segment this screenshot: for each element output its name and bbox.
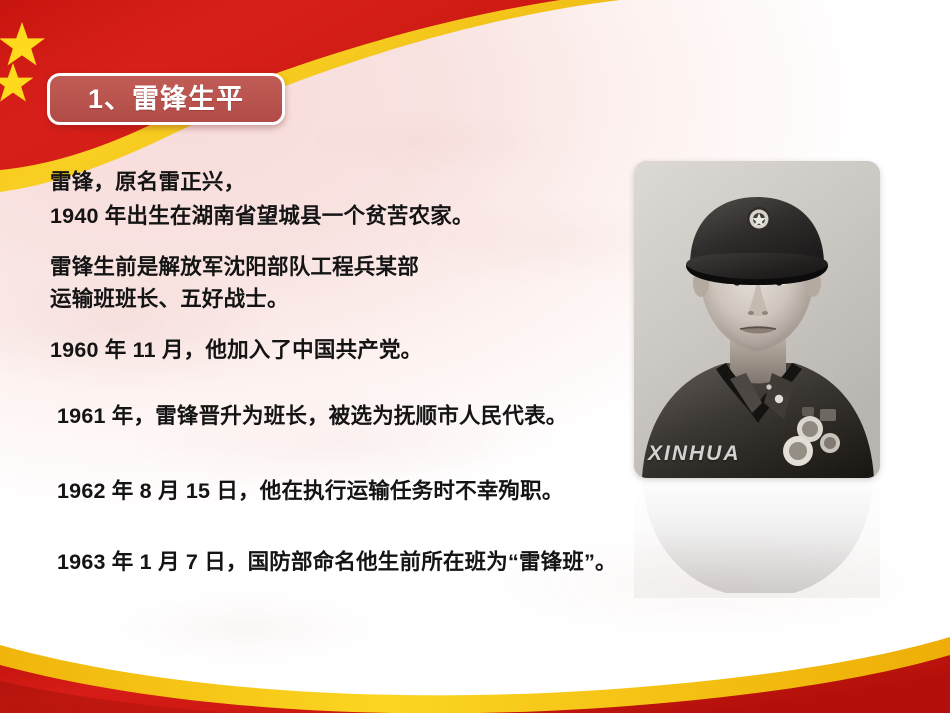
lei-feng-portrait[interactable]: XINHUA xyxy=(634,161,880,478)
slide-canvas: 1、雷锋生平 xyxy=(0,0,950,713)
bottom-red-banner xyxy=(0,583,950,713)
section-title-label: 1、雷锋生平 xyxy=(88,86,244,113)
portrait-image: XINHUA xyxy=(634,161,880,478)
xinhua-watermark: XINHUA xyxy=(648,442,741,466)
section-title-badge[interactable]: 1、雷锋生平 xyxy=(47,73,285,125)
portrait-reflection xyxy=(634,478,880,598)
